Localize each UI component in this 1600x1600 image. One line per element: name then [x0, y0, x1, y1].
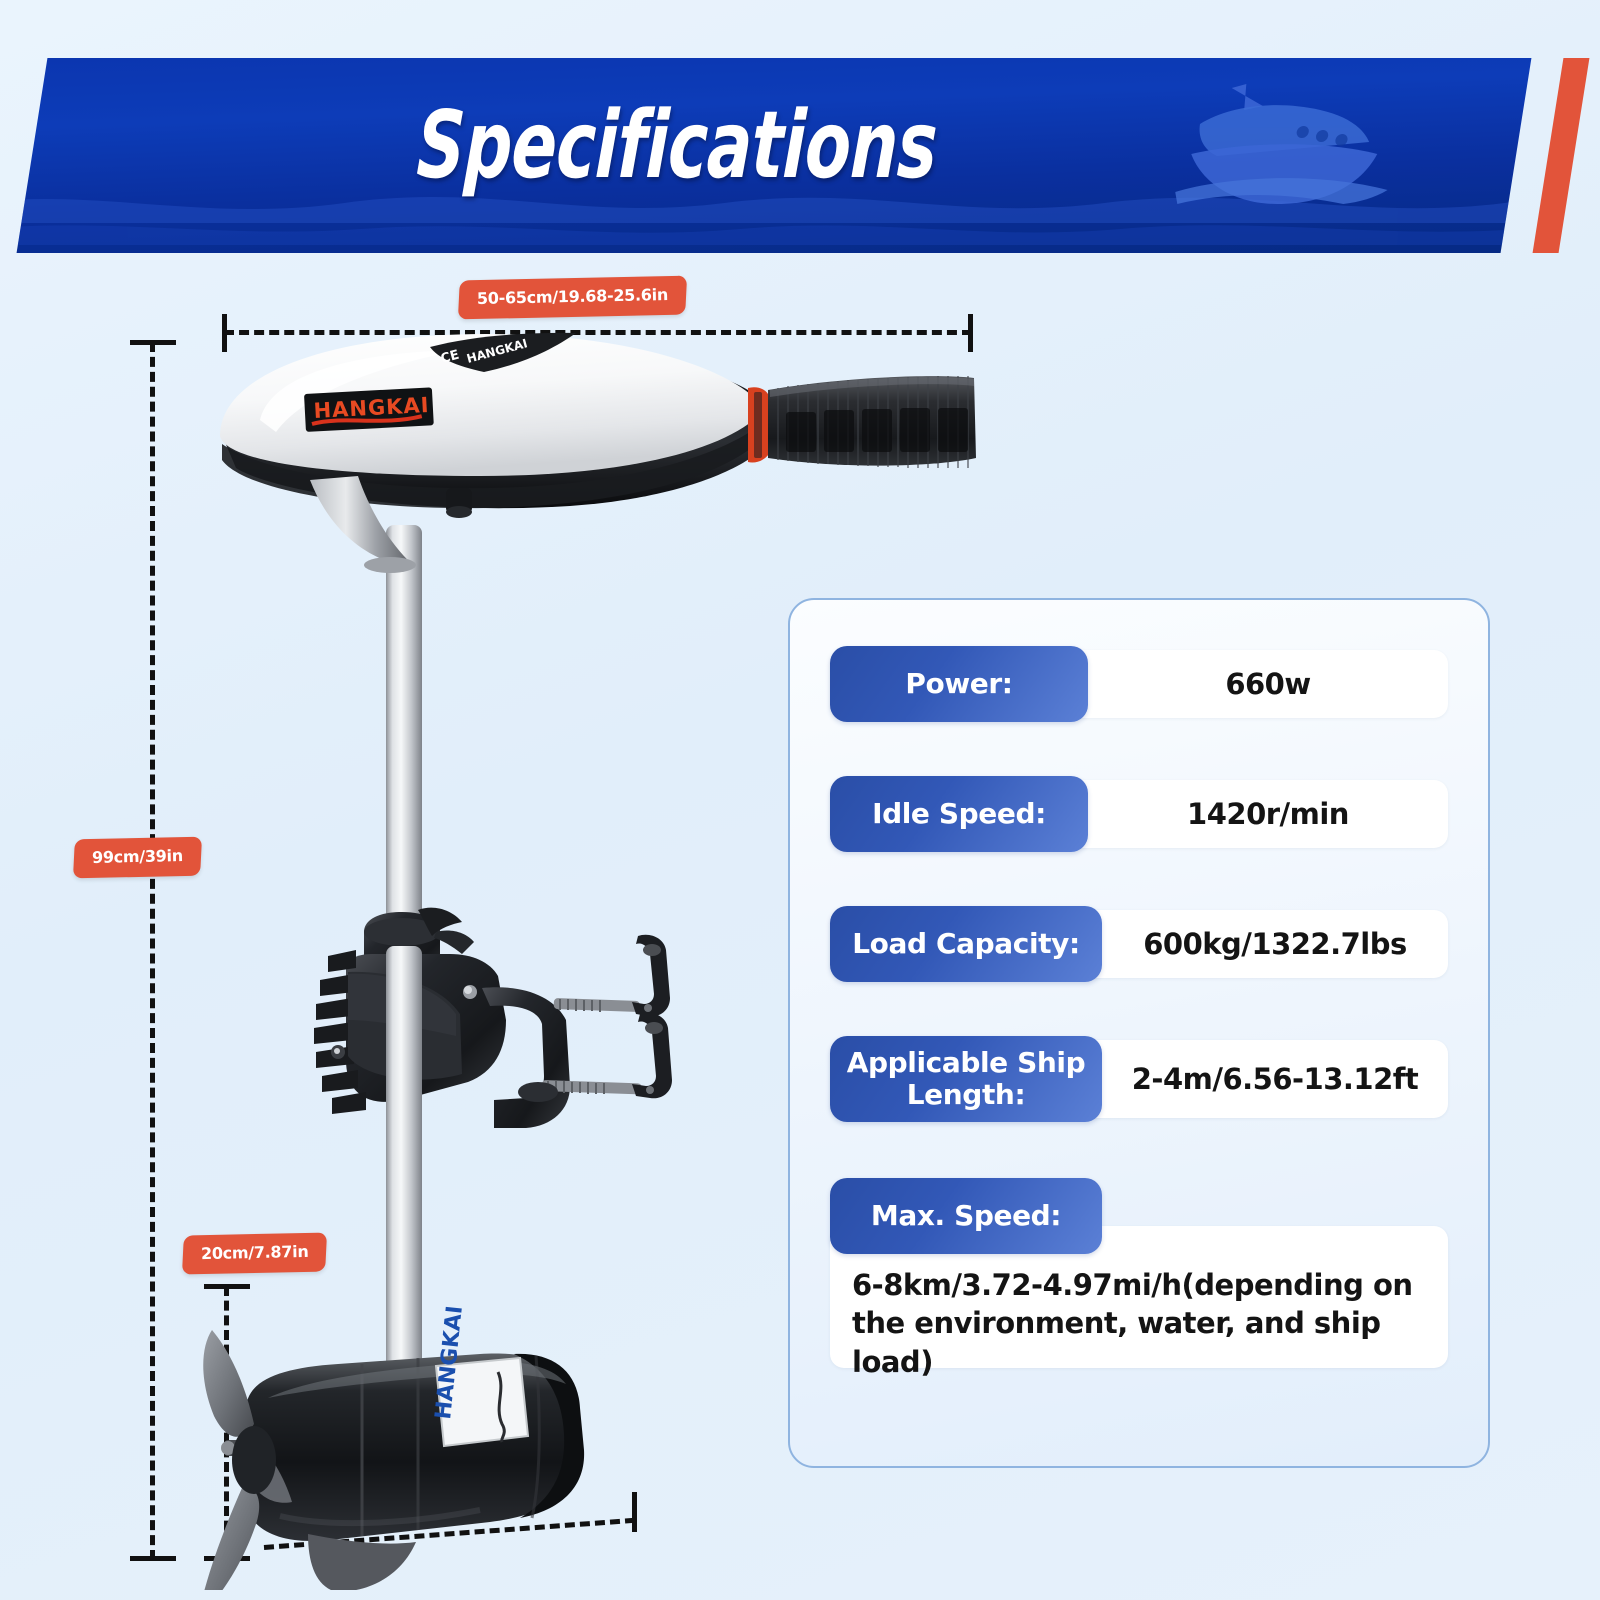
spec-row: Applicable Ship Length: 2-4m/6.56-13.12f…	[830, 1040, 1448, 1118]
spec-label: Power:	[897, 668, 1020, 700]
spec-row: Max. Speed: 6-8km/3.72-4.97mi/h(dependin…	[830, 1178, 1448, 1368]
spec-label-pill: Max. Speed:	[830, 1178, 1102, 1254]
page-title-text: Specifications	[415, 91, 939, 199]
transom-mount-bracket	[314, 908, 672, 1128]
spec-label: Load Capacity:	[844, 928, 1088, 960]
spec-label-pill: Power:	[830, 646, 1088, 722]
spec-value: 660w	[1088, 650, 1448, 718]
spec-label: Idle Speed:	[864, 798, 1054, 830]
spec-value: 600kg/1322.7lbs	[1102, 910, 1448, 978]
spec-label: Max. Speed:	[863, 1200, 1069, 1232]
spec-value: 6-8km/3.72-4.97mi/h(depending on the env…	[852, 1266, 1432, 1381]
specifications-panel: Power: 660w Idle Speed: 1420r/min Load C…	[788, 598, 1490, 1468]
lower-unit-badge: HANGKAI	[431, 1304, 528, 1446]
throttle-handle[interactable]	[748, 376, 976, 468]
spec-row: Power: 660w	[830, 650, 1448, 718]
motor-head: CE HANGKAI HANGKAI	[220, 333, 776, 573]
spec-label-pill: Applicable Ship Length:	[830, 1036, 1102, 1122]
motor-shaft-upper	[386, 525, 422, 945]
spec-label-pill: Load Capacity:	[830, 906, 1102, 982]
header-banner: Specifications	[0, 58, 1600, 258]
dim-label-width-top: 50-65cm/19.68-25.6in	[458, 276, 687, 320]
motor-shaft-lower	[386, 946, 422, 1398]
spec-value: 2-4m/6.56-13.12ft	[1102, 1040, 1448, 1118]
spec-label: Applicable Ship Length:	[830, 1047, 1102, 1111]
page-title: Specifications	[0, 58, 1484, 253]
spec-label-pill: Idle Speed:	[830, 776, 1088, 852]
spec-value: 1420r/min	[1088, 780, 1448, 848]
clamp-screw-lower	[518, 1013, 672, 1102]
banner-accent-bar	[1533, 58, 1590, 253]
clamp-screw-upper	[554, 935, 670, 1017]
spec-row: Load Capacity: 600kg/1322.7lbs	[830, 910, 1448, 978]
brand-badge: HANGKAI	[304, 387, 434, 432]
spec-row: Idle Speed: 1420r/min	[830, 780, 1448, 848]
